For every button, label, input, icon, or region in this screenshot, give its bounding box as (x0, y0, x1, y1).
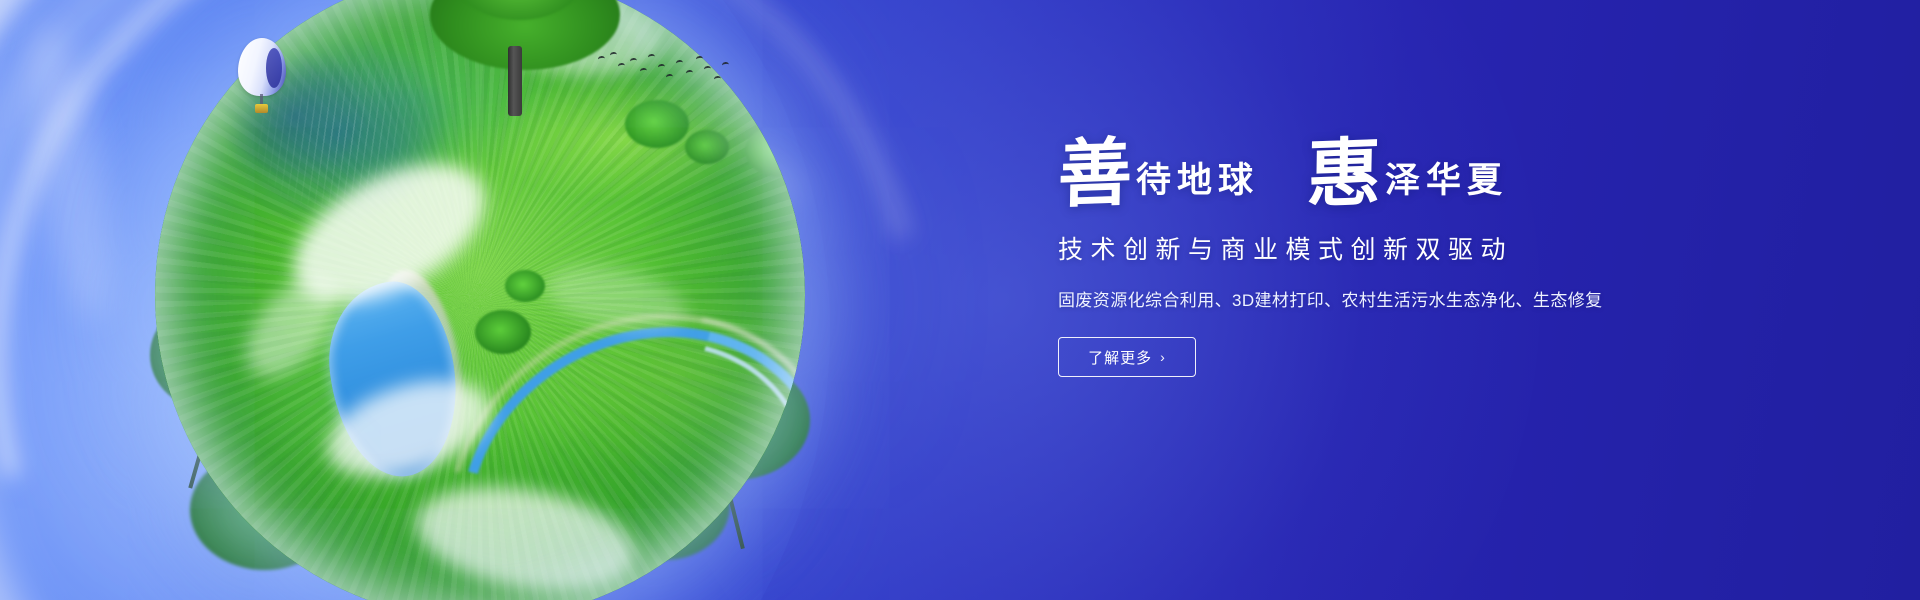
headline-lead-char-2: 惠 (1306, 139, 1381, 210)
learn-more-button[interactable]: 了解更多 › (1058, 337, 1196, 377)
headline-lead-char-1: 善 (1057, 139, 1132, 210)
hot-air-balloon-icon (238, 38, 286, 116)
cloud-wisp (0, 0, 173, 55)
headline-phrase-1: 善 待地球 (1058, 140, 1259, 208)
bird-flock-icon (596, 50, 726, 94)
learn-more-label: 了解更多 (1088, 347, 1152, 368)
balloon-envelope (238, 38, 286, 96)
headline-rest-2: 泽华夏 (1385, 163, 1508, 208)
cloud-wisp (0, 0, 25, 170)
headline-phrase-2: 惠 泽华夏 (1307, 140, 1508, 208)
hero-headline: 善 待地球 惠 泽华夏 (1058, 140, 1698, 208)
hero-banner: 善 待地球 惠 泽华夏 技术创新与商业模式创新双驱动 固废资源化综合利用、3D建… (0, 0, 1920, 600)
hero-subtitle: 技术创新与商业模式创新双驱动 (1058, 230, 1698, 266)
balloon-basket (255, 104, 268, 113)
chevron-right-icon: › (1160, 349, 1166, 365)
hero-content: 善 待地球 惠 泽华夏 技术创新与商业模式创新双驱动 固废资源化综合利用、3D建… (1058, 140, 1698, 377)
cloud-wisp (12, 19, 127, 326)
headline-rest-1: 待地球 (1136, 163, 1259, 208)
hero-description: 固废资源化综合利用、3D建材打印、农村生活污水生态净化、生态修复 (1058, 286, 1698, 311)
